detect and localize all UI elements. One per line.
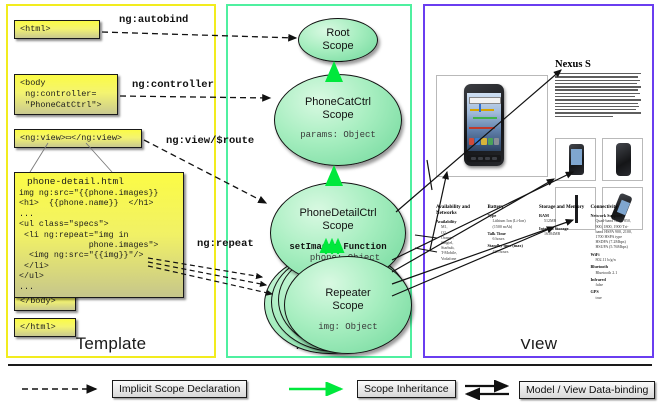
diagram-canvas: Template Model View <html> <body ng:cont…: [0, 0, 660, 420]
code-block-html-close: </html>: [14, 318, 76, 337]
edge-label-controller: ng:controller: [132, 79, 214, 91]
spec-value: 512MB: [539, 218, 587, 223]
spec-column-battery: Battery Type Lithium Ion (Li-Ion) (1500 …: [488, 205, 540, 300]
code-block-html-open: <html>: [14, 20, 100, 39]
code-block-body-open: <body ng:controller= "PhoneCatCtrl">: [14, 74, 118, 115]
legend-item-data-binding: Model / View Data-binding: [463, 380, 655, 400]
scope-root-name-line2: Scope: [299, 40, 377, 53]
callout-code: img ng:src="{{phone.images}} <h1> {{phon…: [15, 189, 183, 297]
edge-label-autobind: ng:autobind: [119, 14, 188, 26]
phone-home-bar: [467, 155, 501, 162]
spec-table: Availability and Networks Availability M…: [436, 205, 642, 300]
callout-title: phone-detail.html: [15, 173, 183, 189]
spec-value: Vodafone: [436, 256, 484, 261]
spec-value: (1500 mAh): [488, 224, 536, 229]
spec-value: 802.11 b/g/n: [591, 257, 639, 262]
legend-label-implicit-scope: Implicit Scope Declaration: [112, 380, 247, 398]
spec-value: true: [591, 295, 639, 300]
spec-header-3: Connectivity: [591, 205, 639, 211]
phone-device-image: [464, 84, 504, 166]
code-callout-phone-detail: phone-detail.html img ng:src="{{phone.im…: [14, 172, 184, 298]
thumbnail-1[interactable]: [555, 138, 596, 181]
scope-root: Root Scope: [298, 18, 378, 62]
spec-value: false: [591, 282, 639, 287]
scope-phonecatctrl-member-0: params: Object: [275, 130, 401, 141]
spec-column-connectivity: Connectivity Network Support Quad-band G…: [591, 205, 643, 300]
product-description: [555, 73, 641, 119]
code-block-ng-view: <ng:view>▭</ng:view>: [14, 129, 142, 148]
spec-value: Quad-band GSM 850,: [591, 218, 639, 223]
spec-value: Bluetooth 2.1: [591, 270, 639, 275]
spec-header-2: Storage and Memory: [539, 205, 587, 211]
scope-phonedetailctrl-name-line2: Scope: [271, 220, 405, 233]
product-title: Nexus S: [555, 59, 591, 70]
legend-dashed-arrow-icon: [18, 382, 112, 396]
spec-value: 6 hours: [488, 236, 536, 241]
phone-search-bar: [469, 97, 501, 104]
scope-repeater-name-line2: Scope: [285, 300, 411, 313]
legend-divider: [8, 364, 652, 366]
edge-label-repeat: ng:repeat: [197, 238, 254, 250]
spec-value: 428 hours: [488, 249, 536, 254]
main-phone-image-frame: [436, 75, 548, 177]
spec-column-storage: Storage and Memory RAM 512MB Internal St…: [539, 205, 591, 300]
phone-screen: [467, 93, 501, 151]
scope-phonedetailctrl-member-0: setImage: Function: [271, 242, 405, 253]
legend-item-implicit-scope: Implicit Scope Declaration: [18, 380, 247, 398]
thumbnail-2[interactable]: [602, 138, 643, 181]
spec-value: HSUPA (5.76Mbps): [591, 244, 639, 249]
spec-value: 16384MB: [539, 231, 587, 236]
spec-header-0: Availability and Networks: [436, 205, 484, 217]
legend-label-scope-inheritance: Scope Inheritance: [357, 380, 456, 398]
scope-phonecatctrl-name-line2: Scope: [275, 109, 401, 122]
legend-double-arrow-icon: [463, 380, 519, 400]
spec-column-availability: Availability and Networks Availability M…: [436, 205, 488, 300]
phone-dock-icons: [469, 138, 499, 145]
scope-phonecatctrl: PhoneCatCtrl Scope params: Object: [274, 74, 402, 166]
legend: Implicit Scope Declaration Scope Inherit…: [0, 362, 660, 420]
legend-item-scope-inheritance: Scope Inheritance: [285, 380, 456, 398]
scope-repeater-name-line1: Repeater: [285, 287, 411, 300]
edge-label-view-route: ng:view/$route: [166, 135, 254, 147]
spec-header-1: Battery: [488, 205, 536, 211]
scope-root-name-line1: Root: [299, 27, 377, 40]
panel-template-label: Template: [8, 334, 214, 354]
view-rendered-page: Nexus S: [433, 53, 645, 339]
scope-repeater: Repeater Scope img: Object: [284, 256, 412, 354]
scope-phonedetailctrl-name-line1: PhoneDetailCtrl: [271, 207, 405, 220]
scope-phonecatctrl-name-line1: PhoneCatCtrl: [275, 96, 401, 109]
scope-repeater-member-0: img: Object: [285, 322, 411, 333]
legend-green-arrow-icon: [285, 382, 357, 396]
legend-label-data-binding: Model / View Data-binding: [519, 381, 655, 399]
